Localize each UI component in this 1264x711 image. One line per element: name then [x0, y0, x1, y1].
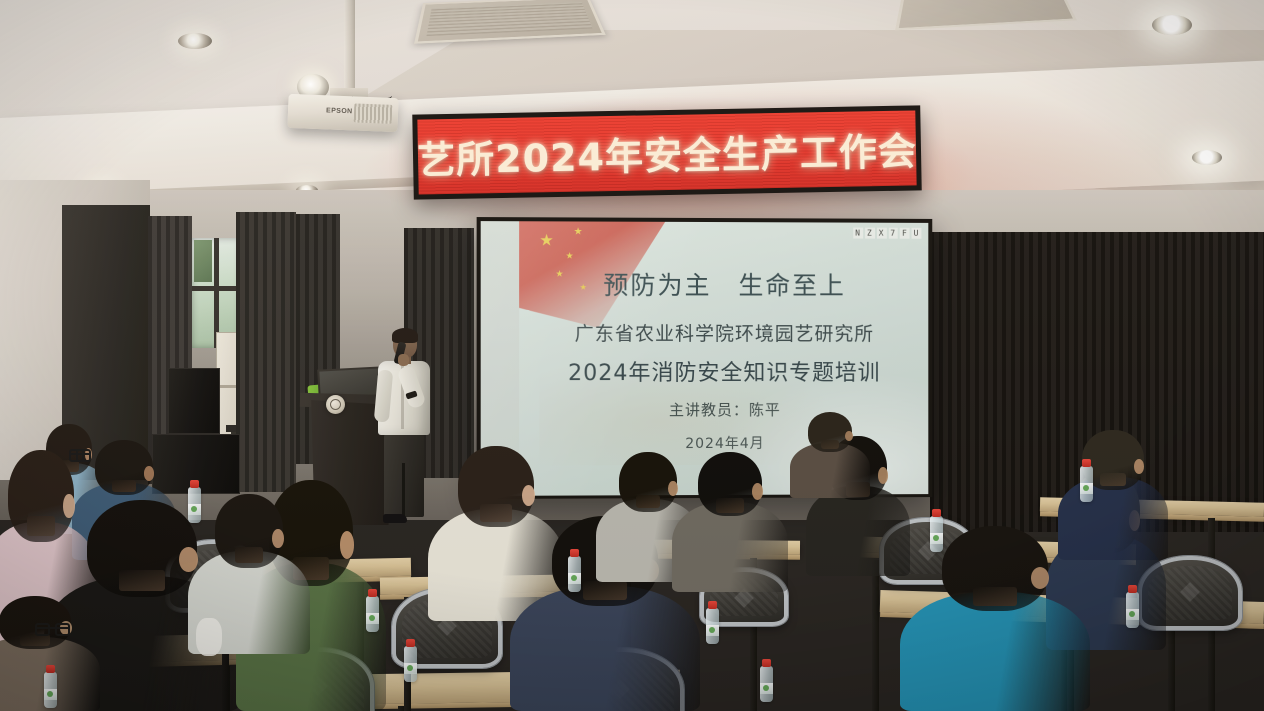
person-ear	[272, 529, 284, 548]
window-mullion-horizontal	[192, 286, 240, 291]
person-head	[619, 452, 677, 512]
projector-vent-icon	[354, 103, 393, 123]
water-bottle[interactable]	[366, 596, 379, 632]
slide-watermark: NZX7FU	[853, 228, 921, 239]
man-back-row-right	[790, 412, 870, 498]
ceiling-downlight-icon	[178, 33, 212, 49]
chair-diamond-detail	[1180, 582, 1200, 602]
water-bottle[interactable]	[930, 516, 943, 552]
bottle-cap-icon	[46, 665, 55, 673]
man-black-tee-center	[672, 452, 788, 592]
person-head	[458, 446, 534, 527]
ceiling-downlight-icon	[1192, 150, 1222, 165]
bottle-label	[1080, 483, 1093, 494]
slide-title: 预防为主 生命至上	[519, 265, 928, 302]
bottle-cap-icon	[406, 639, 415, 647]
watermark-char: Z	[865, 228, 875, 239]
watermark-char: F	[900, 228, 910, 239]
person-head	[698, 452, 763, 516]
bottle-cap-icon	[190, 480, 199, 488]
speaker-upper	[168, 368, 220, 434]
bottle-label	[188, 504, 201, 515]
person-ear	[144, 466, 154, 480]
led-banner: 环艺所2024年安全生产工作会议	[412, 105, 921, 199]
person-ear	[1031, 567, 1049, 589]
bottle-label	[366, 613, 379, 624]
presenter-trousers	[384, 433, 424, 517]
bottle-cap-icon	[1082, 459, 1091, 467]
led-banner-text: 环艺所2024年安全生产工作会议	[417, 120, 916, 186]
flag-star-icon: ★	[574, 227, 583, 237]
projector-brand-label: EPSON	[326, 107, 353, 115]
water-bottle[interactable]	[568, 556, 581, 592]
man-navy-polo-right	[1058, 430, 1168, 560]
podium-emblem-icon	[326, 395, 345, 414]
slide-course-title: 2024年消防安全知识专题培训	[519, 355, 928, 387]
water-bottle[interactable]	[1080, 466, 1093, 502]
presenter-shoe	[383, 514, 407, 523]
presenter-hair	[392, 328, 418, 343]
bottle-cap-icon	[932, 509, 941, 517]
projector-mount-pole	[344, 0, 355, 96]
presenter-hand	[398, 354, 409, 366]
bottle-label	[404, 663, 417, 674]
flag-star-icon: ★	[566, 252, 574, 261]
person-ear	[845, 431, 853, 441]
bottle-cap-icon	[762, 659, 771, 667]
bottle-label	[44, 689, 57, 700]
bottle-label	[706, 625, 719, 636]
water-bottle[interactable]	[706, 608, 719, 644]
window-foliage	[194, 240, 212, 282]
table-leg	[1168, 622, 1175, 711]
projector: EPSON	[287, 94, 398, 132]
water-bottle[interactable]	[188, 487, 201, 523]
person-head	[942, 526, 1048, 611]
bottle-label	[568, 573, 581, 584]
water-bottle[interactable]	[404, 646, 417, 682]
water-bottle[interactable]	[760, 666, 773, 702]
conference-room-photo: 环艺所2024年安全生产工作会议 EPSON ★★★★★ NZX7FU 预防为主…	[0, 0, 1264, 711]
water-bottle[interactable]	[1126, 592, 1139, 628]
watermark-char: N	[853, 228, 863, 239]
bottle-cap-icon	[570, 549, 579, 557]
person-ear	[752, 483, 763, 500]
table-leg	[872, 560, 879, 711]
curtain-left-2	[236, 212, 296, 492]
water-bottle[interactable]	[44, 672, 57, 708]
person-ear	[522, 485, 535, 506]
watermark-char: X	[877, 228, 887, 239]
bottle-cap-icon	[368, 589, 377, 597]
person-ear	[878, 467, 888, 484]
slide-organization: 广东省农业科学院环境园艺研究所	[519, 319, 928, 346]
bottle-cap-icon	[1128, 585, 1137, 593]
glasses-icon	[35, 627, 70, 629]
watermark-char: 7	[888, 228, 898, 239]
watermark-char: U	[912, 228, 922, 239]
face-mask-icon	[196, 618, 222, 656]
ceiling-downlight-icon	[1152, 15, 1192, 35]
bottle-label	[1126, 609, 1139, 620]
flag-star-icon: ★	[539, 233, 553, 249]
bottle-label	[930, 533, 943, 544]
person-ear	[340, 531, 354, 559]
bottle-cap-icon	[708, 601, 717, 609]
bottle-label	[760, 683, 773, 694]
person-head	[87, 500, 197, 597]
